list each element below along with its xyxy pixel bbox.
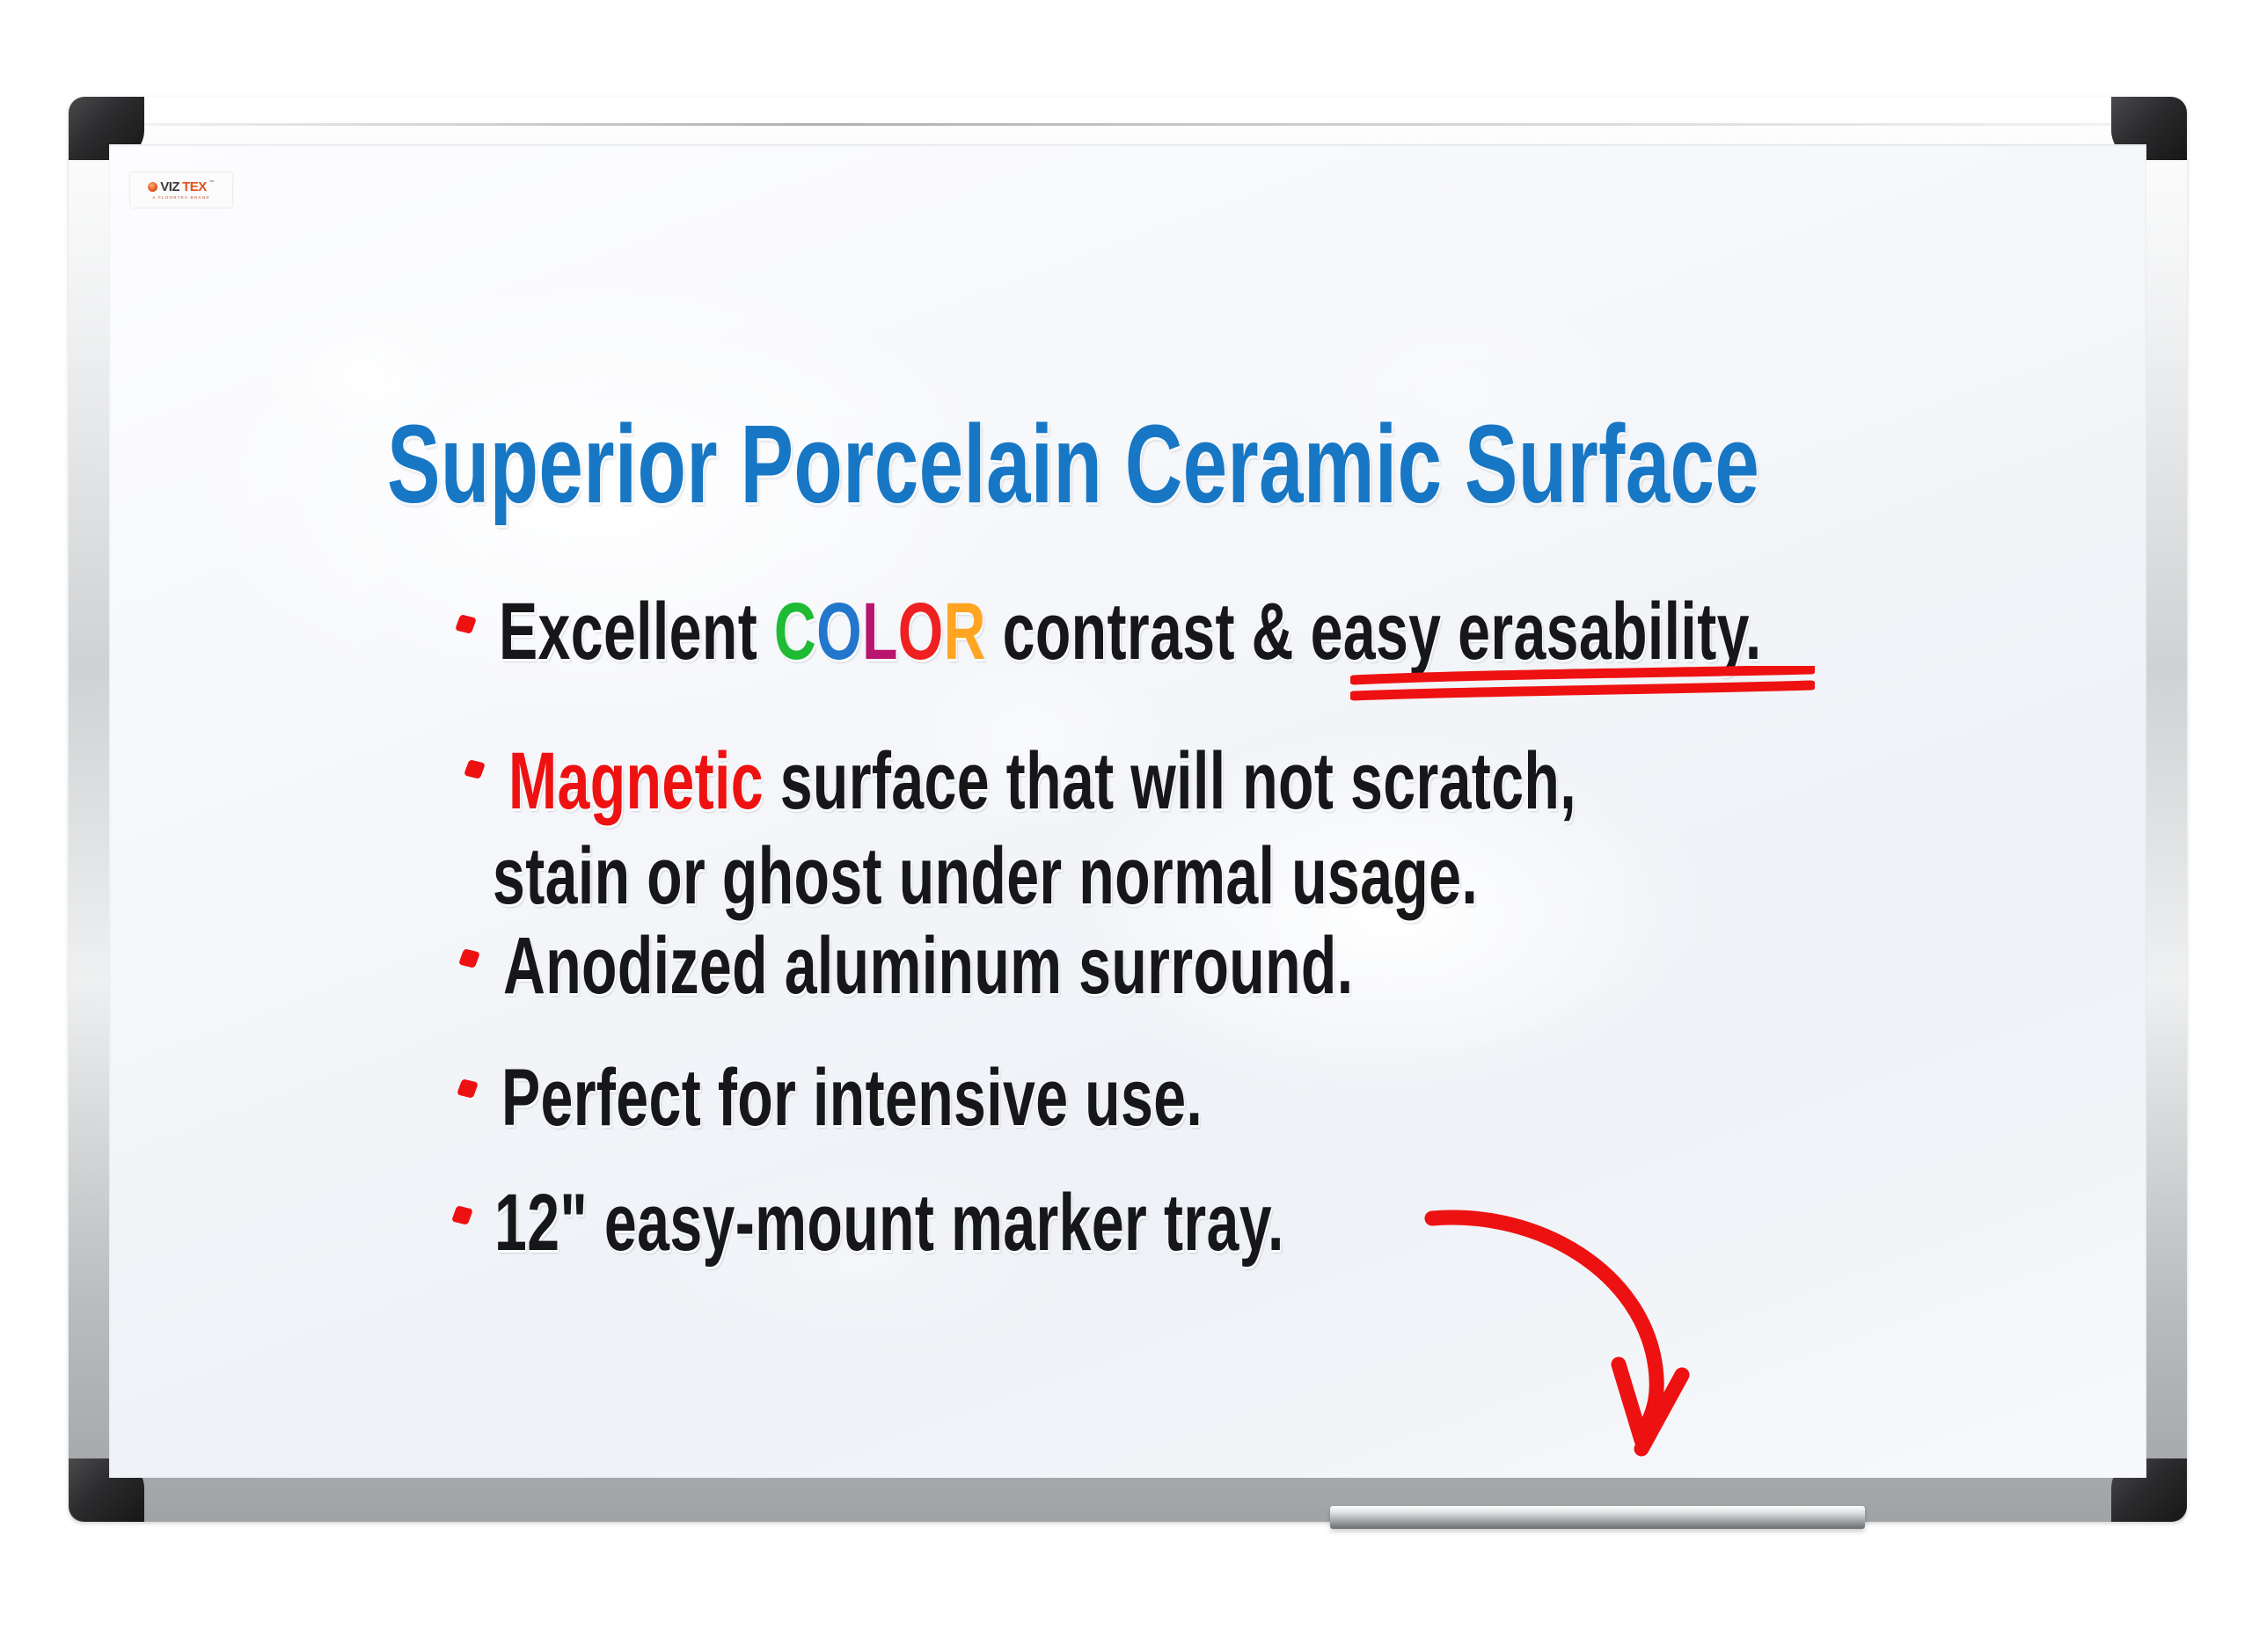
whiteboard	[69, 97, 2187, 1522]
surface-glare-2	[883, 637, 1174, 830]
surface-glare-3	[1270, 276, 1640, 505]
screenshot-root: VIZ TEX ™ A FLOORTEX BRAND Superior Porc…	[0, 0, 2252, 1652]
surface-glare-4	[637, 1156, 1094, 1367]
logo-tagline: A FLOORTEX BRAND	[152, 196, 210, 201]
viztex-logo: VIZ TEX ™ A FLOORTEX BRAND	[130, 172, 232, 208]
circle-logo-mark-icon	[148, 182, 157, 192]
logo-wordmark: VIZ TEX ™	[148, 180, 215, 194]
surface-glare-1	[259, 303, 470, 452]
logo-text-tex: TEX	[182, 180, 207, 194]
logo-text-viz: VIZ	[160, 180, 179, 194]
porcelain-writing-surface[interactable]	[109, 144, 2146, 1478]
trademark-icon: ™	[209, 180, 215, 186]
marker-tray[interactable]	[1330, 1506, 1865, 1529]
